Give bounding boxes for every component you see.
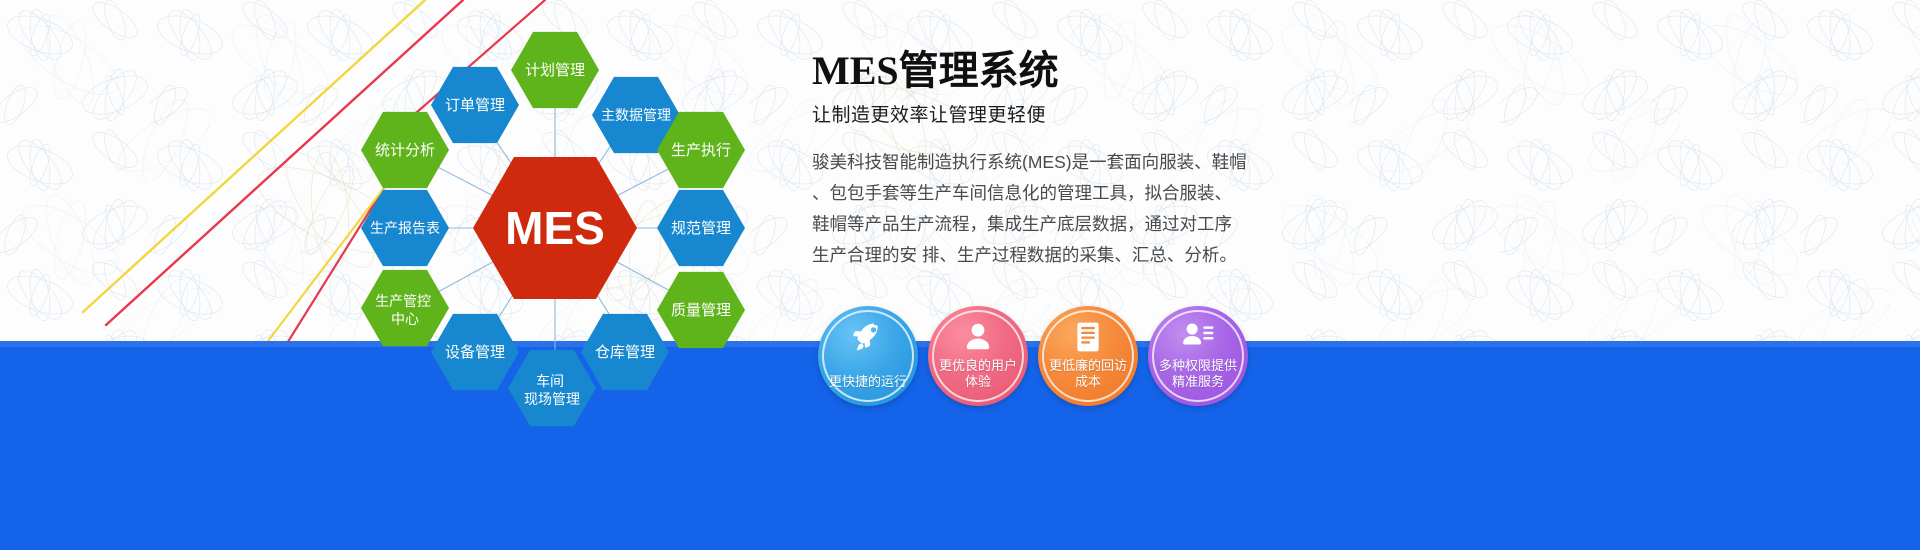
feature-badge-0[interactable]: 更快捷的运行: [818, 306, 918, 406]
hex-node-7-label: 设备管理: [445, 344, 505, 361]
feature-badge-2[interactable]: 更低廉的回访成本: [1038, 306, 1138, 406]
description-line-1: 骏美科技智能制造执行系统(MES)是一套面向服装、鞋帽: [812, 147, 1282, 178]
hex-node-11-label: 订单管理: [445, 97, 505, 114]
description-paragraph: 骏美科技智能制造执行系统(MES)是一套面向服装、鞋帽 、包包手套等生产车间信息…: [812, 147, 1282, 271]
hex-node-3[interactable]: 规范管理: [657, 190, 745, 266]
permission-icon: [1181, 320, 1215, 354]
feature-badge-3[interactable]: 多种权限提供精准服务: [1148, 306, 1248, 406]
hex-node-0-label: 计划管理: [525, 62, 585, 79]
description-line-2: 、包包手套等生产车间信息化的管理工具，拟合服装、: [812, 178, 1282, 209]
hex-node-4[interactable]: 质量管理: [657, 272, 745, 348]
feature-badge-list: 更快捷的运行 更优良的用户体验 更低廉的回访成本: [818, 306, 1268, 406]
page-subtitle: 让制造更效率让管理更轻便: [812, 100, 1332, 127]
hex-node-0[interactable]: 计划管理: [511, 32, 599, 108]
hex-node-5-label: 仓库管理: [595, 344, 655, 361]
hex-node-1-label: 主数据管理: [601, 107, 671, 123]
hex-node-7[interactable]: 设备管理: [431, 314, 519, 390]
hex-center-label: MES: [505, 202, 605, 254]
right-content: MES管理系统 让制造更效率让管理更轻便 骏美科技智能制造执行系统(MES)是一…: [812, 48, 1332, 271]
banner-stage: 计划管理 主数据管理 生产执行 规范管理: [0, 0, 1920, 550]
hex-node-11[interactable]: 订单管理: [431, 67, 519, 143]
hex-node-4-label: 质量管理: [671, 302, 731, 319]
badge-label-2: 更低廉的回访成本: [1038, 358, 1138, 406]
badge-label-3: 多种权限提供精准服务: [1148, 358, 1248, 406]
badge-label-1: 更优良的用户体验: [928, 358, 1028, 406]
hex-node-center[interactable]: MES: [473, 157, 637, 299]
rocket-icon: [851, 320, 885, 354]
description-line-3: 鞋帽等产品生产流程，集成生产底层数据，通过对工序: [812, 209, 1282, 240]
feature-badge-1[interactable]: 更优良的用户体验: [928, 306, 1028, 406]
page-title: MES管理系统: [812, 48, 1332, 94]
hex-node-6[interactable]: 车间 现场管理: [508, 350, 596, 426]
document-icon: [1071, 320, 1105, 354]
description-line-4: 生产合理的安 排、生产过程数据的采集、汇总、分析。: [812, 240, 1282, 271]
hex-node-9[interactable]: 生产报告表: [361, 190, 449, 266]
badge-label-0: 更快捷的运行: [821, 374, 915, 406]
hex-node-3-label: 规范管理: [671, 220, 731, 237]
hex-node-10-label: 统计分析: [375, 142, 435, 159]
hex-node-8[interactable]: 生产管控 中心: [361, 270, 449, 346]
hex-node-10[interactable]: 统计分析: [361, 112, 449, 188]
hex-node-2-label: 生产执行: [671, 142, 731, 159]
mes-hexagon-diagram: 计划管理 主数据管理 生产执行 规范管理: [330, 10, 780, 430]
hex-node-5[interactable]: 仓库管理: [581, 314, 669, 390]
hex-node-9-label: 生产报告表: [370, 220, 440, 236]
user-icon: [961, 320, 995, 354]
